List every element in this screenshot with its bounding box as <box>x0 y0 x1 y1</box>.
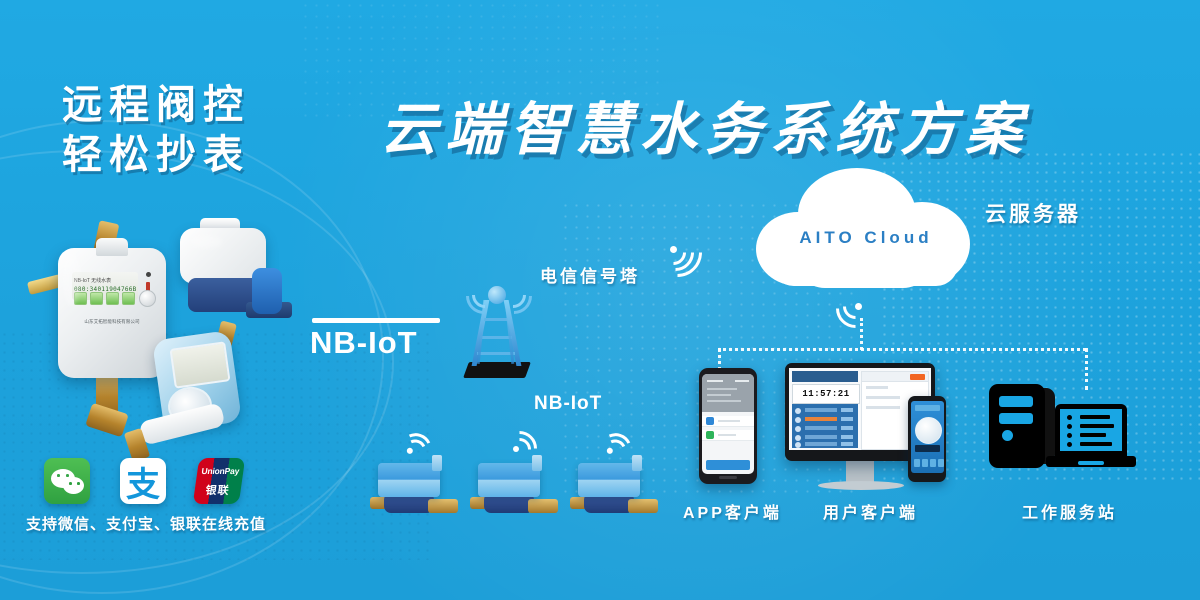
connector-drop-cloud <box>860 318 863 350</box>
unionpay-icon[interactable]: UnionPay 银联 <box>193 458 245 504</box>
monitor-stand <box>846 461 874 483</box>
unionpay-label-cn: 银联 <box>194 482 242 498</box>
cloud-server-label: 云服务器 <box>985 198 1081 228</box>
workstation-label: 工作服务站 <box>1022 499 1117 523</box>
tower-label: 电信信号塔 <box>540 262 640 287</box>
meter-spec-text: 山东艾拓智能科技有限公司 <box>66 318 158 325</box>
wifi-icon-meter-1 <box>394 418 438 459</box>
app-client-label: APP客户端 <box>683 499 782 523</box>
meter-knob <box>139 290 156 307</box>
nbiot-primary-label: NB-IoT <box>310 325 418 361</box>
uplink-signal-icon <box>665 228 707 270</box>
secondary-phone-meter-app <box>908 396 946 482</box>
alipay-icon[interactable]: 支 <box>120 458 166 504</box>
alipay-glyph: 支 <box>120 458 166 504</box>
wifi-icon-meter-3 <box>594 418 638 459</box>
connector-bus-line <box>718 348 1086 351</box>
monitor-clock: 11:57:21 <box>792 384 860 404</box>
monitor-foot <box>818 481 904 490</box>
phone-primary-button <box>706 460 750 470</box>
wifi-icon-meter-2 <box>500 424 536 452</box>
monitor-status-badge <box>910 374 925 380</box>
poster-canvas: 远程阀控 轻松抄表 云端智慧水务系统方案 NB-IoT 无线水表 080:340… <box>0 0 1200 600</box>
tagline: 远程阀控 轻松抄表 <box>62 80 250 180</box>
cloud-brand-label: AITO Cloud <box>766 228 966 248</box>
nbiot-secondary-label: NB-IoT <box>534 393 602 415</box>
tower-signal-right-icon <box>502 278 532 312</box>
page-title: 云端智慧水务系统方案 <box>380 84 1030 166</box>
payment-caption: 支持微信、支付宝、银联在线充值 <box>26 513 266 534</box>
tagline-line-2: 轻松抄表 <box>62 130 250 180</box>
tower-signal-left-icon <box>462 278 492 312</box>
nbiot-rule <box>312 318 440 323</box>
connector-drop-workstation <box>1085 348 1088 390</box>
tagline-line-1: 远程阀控 <box>62 80 250 130</box>
app-client-phone <box>699 368 757 484</box>
unionpay-label-en: UnionPay <box>197 466 244 476</box>
wechat-pay-icon[interactable] <box>44 458 90 504</box>
downlink-signal-icon <box>838 300 880 340</box>
user-client-label: 用户客户端 <box>823 499 918 523</box>
